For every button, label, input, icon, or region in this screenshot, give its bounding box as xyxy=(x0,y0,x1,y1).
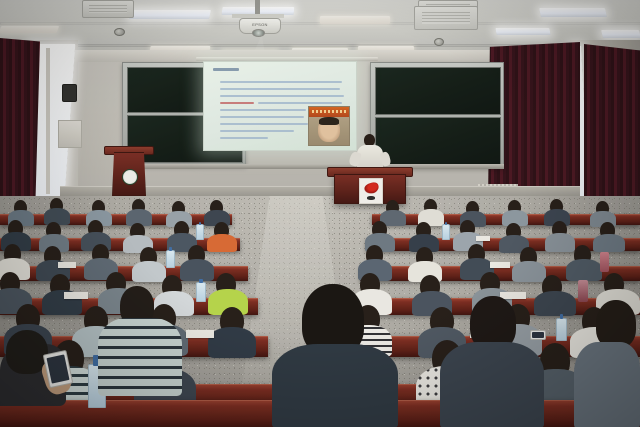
slide-body-line xyxy=(220,95,344,97)
audience-body xyxy=(545,233,575,252)
ceiling-light-panel xyxy=(320,16,390,24)
wall-panel xyxy=(58,120,82,148)
chalk-tray xyxy=(120,164,504,169)
water-bottle xyxy=(196,282,206,302)
water-bottle xyxy=(166,250,175,268)
audience-head xyxy=(596,300,636,348)
ceiling-light-panel xyxy=(539,8,607,17)
chalkboard-panel xyxy=(375,117,501,165)
portrait-face xyxy=(318,118,340,142)
window-mullion xyxy=(46,48,50,194)
ceiling-light-panel xyxy=(601,30,640,38)
audience-body xyxy=(512,261,546,282)
audience-body xyxy=(574,342,640,427)
slide-body-line xyxy=(220,137,268,139)
slide-highlight-line xyxy=(220,102,254,104)
slide-body-line xyxy=(220,109,306,111)
lectern-seal xyxy=(122,169,138,185)
ac-vent xyxy=(82,0,134,18)
audience-body xyxy=(534,291,576,316)
slide-body-line xyxy=(220,88,340,90)
lecture-hall-photo: EPSON xyxy=(0,0,640,427)
water-bottle xyxy=(442,224,450,240)
poster-text-block xyxy=(367,196,376,200)
slide-portrait-photo xyxy=(308,106,350,146)
left-curtain xyxy=(0,38,40,210)
desk-row xyxy=(0,238,240,251)
slide-body-line xyxy=(220,130,294,132)
audience-body xyxy=(132,261,166,282)
smartphone xyxy=(530,330,546,340)
slide-body-line xyxy=(220,81,342,83)
ceiling-speaker xyxy=(114,28,125,36)
audience-body xyxy=(440,342,544,427)
ac-vent xyxy=(414,6,478,30)
audience-body-foreground xyxy=(272,344,398,427)
audience-body-striped xyxy=(98,318,182,396)
wall-speaker xyxy=(62,84,77,102)
audience-body xyxy=(593,234,625,252)
notebook xyxy=(476,236,490,241)
main-podium[interactable] xyxy=(334,174,406,204)
projection-screen[interactable] xyxy=(203,61,357,151)
right-curtain-panel-b xyxy=(584,44,640,204)
ceiling-light-panel xyxy=(495,28,550,35)
slide-body-line xyxy=(220,116,304,118)
ceiling-light-panel xyxy=(0,26,59,33)
portrait-caption-bar xyxy=(309,107,349,117)
slide-body-line xyxy=(258,102,342,104)
ceiling-speaker xyxy=(434,38,444,46)
slide-title-text xyxy=(213,68,239,71)
audience-body xyxy=(207,234,237,252)
notebook xyxy=(64,292,88,299)
audience-body xyxy=(566,259,602,281)
thermos-flask xyxy=(600,252,609,272)
ceiling-light-panel xyxy=(129,10,211,19)
thermos-flask xyxy=(578,280,588,302)
projector-brand-label: EPSON xyxy=(240,22,280,27)
notebook xyxy=(58,262,76,268)
notebook xyxy=(186,330,214,338)
side-lectern[interactable] xyxy=(112,152,146,196)
audience-body xyxy=(208,327,256,358)
audience-body xyxy=(180,259,214,281)
water-bottle xyxy=(556,318,567,341)
chalkboard-frame-right xyxy=(370,62,504,168)
poster-logo xyxy=(362,181,380,196)
water-bottle xyxy=(196,224,204,240)
notebook xyxy=(490,262,510,268)
chalkboard-panel xyxy=(375,67,501,115)
podium-poster xyxy=(359,178,383,204)
slide-body-line xyxy=(220,123,308,125)
